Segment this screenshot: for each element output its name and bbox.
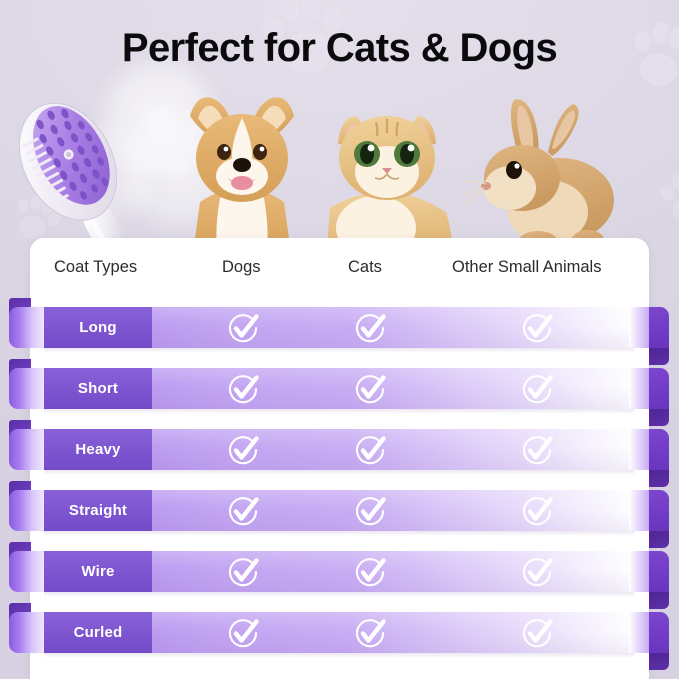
check-circle-icon <box>520 433 554 467</box>
ribbon-sheet-left <box>9 307 47 348</box>
purple-steam-pet-grooming-brush <box>6 92 156 262</box>
check-circle-icon <box>353 372 387 406</box>
ribbon-tail-left <box>9 298 47 357</box>
check-circle-icon <box>353 494 387 528</box>
check-circle-icon <box>226 433 260 467</box>
ribbon-fold-right-under <box>649 592 669 609</box>
tan-rabbit-photo <box>462 96 622 258</box>
coat-type-row: Short <box>0 368 679 409</box>
infographic-stage: Perfect for Cats & Dogs <box>0 0 679 679</box>
ribbon-fold-right-under <box>649 409 669 426</box>
ribbon-tail-left <box>9 359 47 418</box>
check-circle-icon <box>226 372 260 406</box>
ribbon-tail-right <box>629 612 669 670</box>
ribbon-sheet-left <box>9 612 47 653</box>
ribbon-tail-left <box>9 481 47 540</box>
ribbon-fold-right <box>649 612 669 653</box>
coat-type-row: Heavy <box>0 429 679 470</box>
ribbon-sheet-left <box>9 429 47 470</box>
ribbon-fold-right-under <box>649 653 669 670</box>
ribbon-fold-right <box>649 429 669 470</box>
coat-type-row: Long <box>0 307 679 348</box>
coat-type-label: Wire <box>44 551 152 592</box>
check-circle-icon <box>226 494 260 528</box>
coat-type-label-text: Straight <box>69 502 127 519</box>
check-circle-icon <box>226 616 260 650</box>
column-header-cats: Cats <box>348 258 382 277</box>
check-circle-icon <box>520 555 554 589</box>
coat-type-label-text: Long <box>79 319 116 336</box>
coat-type-row: Curled <box>0 612 679 653</box>
table-header-row: Coat Types Dogs Cats Other Small Animals <box>30 238 649 296</box>
check-circle-icon <box>226 555 260 589</box>
page-title: Perfect for Cats & Dogs <box>0 26 679 71</box>
check-circle-icon <box>520 616 554 650</box>
ribbon-sheet-left <box>9 368 47 409</box>
check-circle-icon <box>353 433 387 467</box>
coat-type-label: Long <box>44 307 152 348</box>
coat-type-label-text: Short <box>78 380 118 397</box>
check-circle-icon <box>353 311 387 345</box>
ribbon-fold-right-under <box>649 470 669 487</box>
check-circle-icon <box>520 494 554 528</box>
coat-type-label-text: Wire <box>81 563 114 580</box>
check-circle-icon <box>353 555 387 589</box>
ribbon-fold-right <box>649 551 669 592</box>
check-circle-icon <box>353 616 387 650</box>
check-circle-icon <box>226 311 260 345</box>
ribbon-sheet-left <box>9 551 47 592</box>
coat-type-row: Straight <box>0 490 679 531</box>
ribbon-tail-right <box>629 429 669 487</box>
column-header-coat-types: Coat Types <box>54 258 137 277</box>
ribbon-sheet-left <box>9 490 47 531</box>
check-circle-icon <box>520 311 554 345</box>
column-header-dogs: Dogs <box>222 258 261 277</box>
ribbon-fold-right <box>649 368 669 409</box>
ribbon-tail-left <box>9 542 47 601</box>
coat-type-label: Straight <box>44 490 152 531</box>
ribbon-tail-right <box>629 490 669 548</box>
ribbon-fold-right <box>649 490 669 531</box>
ribbon-tail-right <box>629 307 669 365</box>
ribbon-fold-right-under <box>649 348 669 365</box>
ribbon-tail-right <box>629 551 669 609</box>
corgi-dog-photo <box>162 82 322 260</box>
coat-type-label: Short <box>44 368 152 409</box>
ribbon-fold-right <box>649 307 669 348</box>
ribbon-tail-left <box>9 603 47 662</box>
ribbon-fold-right-under <box>649 531 669 548</box>
coat-type-row: Wire <box>0 551 679 592</box>
ribbon-tail-left <box>9 420 47 479</box>
coat-type-label: Heavy <box>44 429 152 470</box>
check-circle-icon <box>520 372 554 406</box>
coat-type-label: Curled <box>44 612 152 653</box>
column-header-other-small-animals: Other Small Animals <box>452 258 601 277</box>
golden-british-shorthair-cat-photo <box>312 92 462 260</box>
ribbon-tail-right <box>629 368 669 426</box>
coat-type-label-text: Curled <box>74 624 123 641</box>
coat-type-label-text: Heavy <box>75 441 120 458</box>
